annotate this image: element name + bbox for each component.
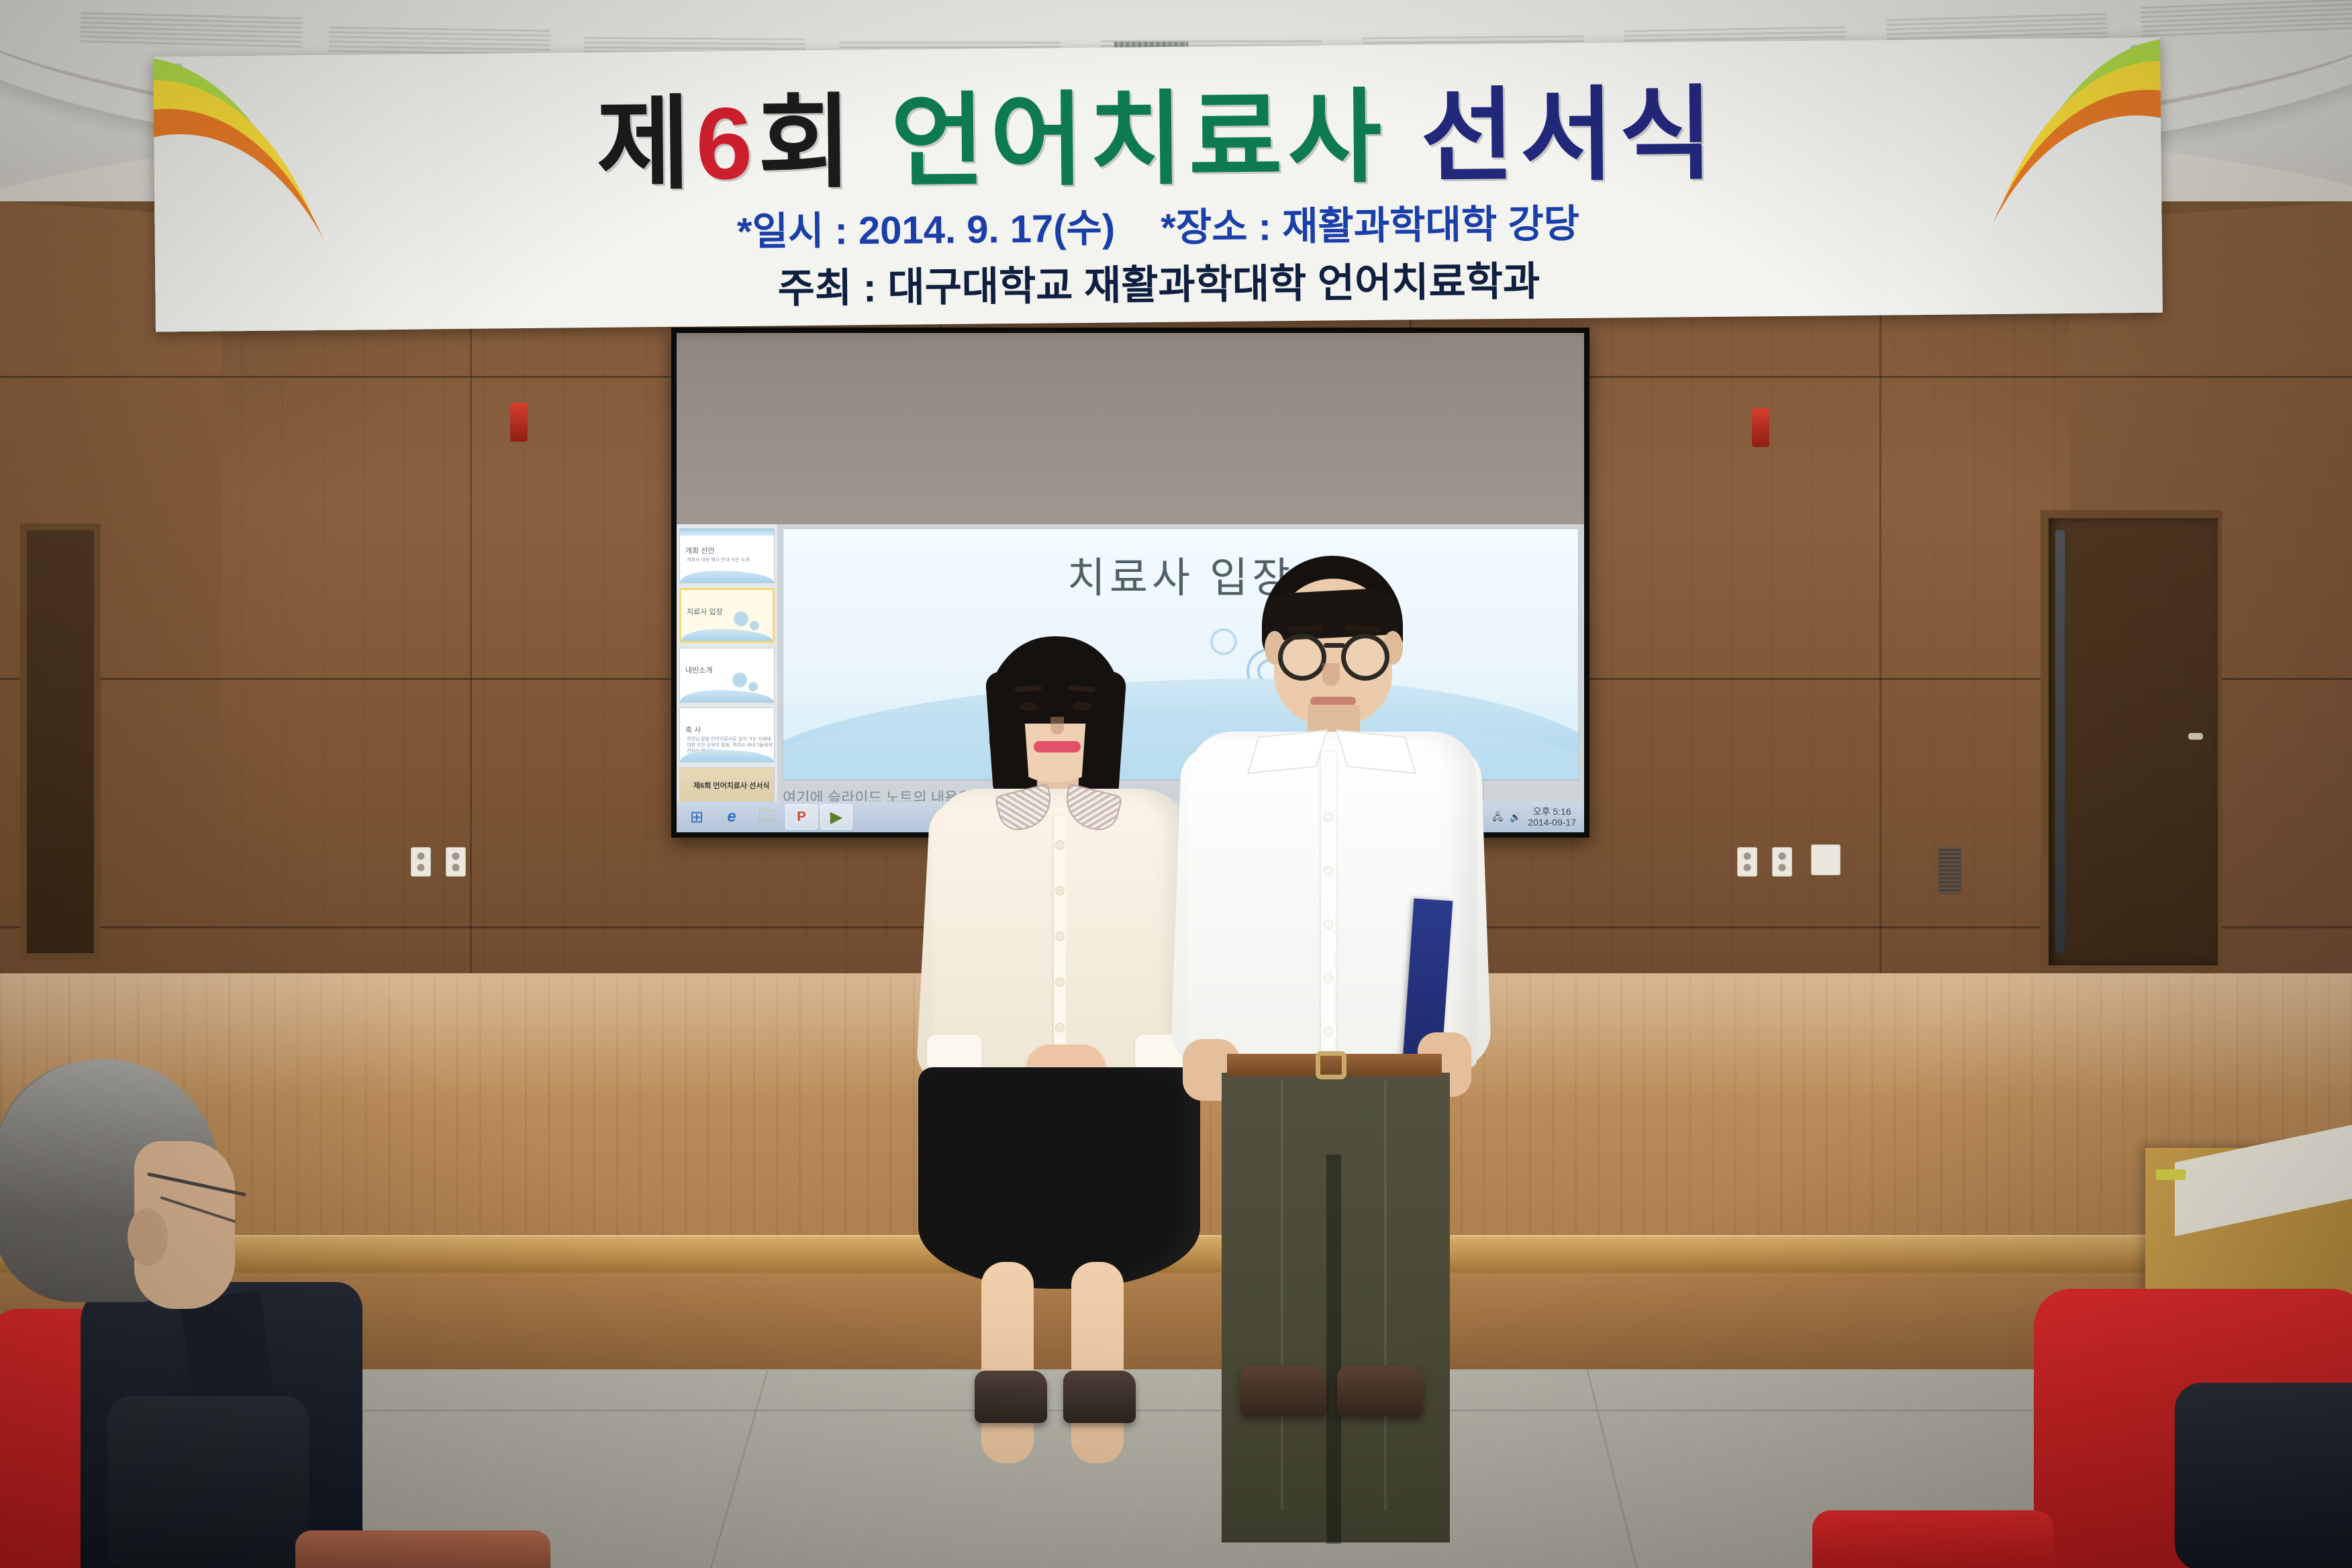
glasses-bridge — [1324, 643, 1345, 648]
banner-title-part: 선서식 — [1386, 77, 1718, 195]
banner-title-number: 6 — [695, 87, 758, 201]
blouse-button — [1055, 977, 1065, 987]
trouser-crease-left — [1281, 1081, 1283, 1510]
thumb-title: 개회 선언 — [685, 545, 715, 556]
system-tray[interactable]: 🖧 🔊 오후 5:16 2014-09-17 — [1492, 806, 1580, 828]
side-door[interactable] — [20, 524, 101, 960]
wall-outlet — [1737, 847, 1757, 877]
shoe-right — [1337, 1365, 1423, 1416]
skirt — [918, 1067, 1200, 1289]
media-player-icon[interactable]: ▶ — [820, 804, 852, 830]
auditorium-photo: 2 개회 선언 개회사 내용 행사 안내 식순 소개 3 치료사 입장 — [0, 0, 2352, 1568]
blouse-button — [1055, 932, 1065, 941]
shirt-placket — [1321, 752, 1336, 1067]
tree-icon — [748, 682, 758, 691]
slide-thumbnail[interactable]: 5 축 사 학장님 말씀 언어치료사로 살아 가는 자세에 대한 조언 당부의 … — [679, 707, 775, 763]
fire-alarm-icon — [1752, 408, 1769, 447]
trouser-crease-right — [1384, 1081, 1387, 1510]
door-handle-icon[interactable] — [2188, 733, 2203, 740]
audience-chair-back-right[interactable] — [2175, 1383, 2352, 1568]
thumb-wave — [680, 690, 774, 702]
thumb-title: 치료사 입장 — [687, 606, 723, 617]
audience-chair-back-left[interactable] — [107, 1396, 309, 1568]
blouse-button — [1055, 1023, 1065, 1032]
wall-outlet — [1772, 847, 1792, 877]
slide-title: 치료사 입장 — [783, 544, 1578, 604]
wall-panel-seam — [1879, 201, 1881, 980]
powerpoint-icon[interactable]: P — [785, 804, 818, 830]
tray-time: 오후 5:16 — [1533, 806, 1571, 817]
tree-icon — [734, 611, 748, 626]
slide-thumbnail-selected[interactable]: 3 치료사 입장 — [679, 588, 775, 643]
hair-fringe — [1263, 587, 1402, 642]
ceiling-vent — [80, 12, 302, 48]
leg-left — [981, 1262, 1034, 1463]
blouse-button — [1055, 886, 1065, 895]
thumb-title: 제6회 언어치료사 선서식 — [693, 780, 769, 791]
audience-ear — [128, 1208, 168, 1266]
eye-left — [1019, 702, 1038, 711]
table-label-sticker — [2156, 1169, 2186, 1180]
shirt-button — [1324, 920, 1333, 929]
audience-chair-far-right[interactable] — [1812, 1510, 2054, 1568]
banner-place: *장소 : 재활과학대학 강당 — [1161, 202, 1579, 250]
leg-right — [1071, 1262, 1124, 1463]
banner-title-part: 언어치료사 — [856, 81, 1387, 200]
slide-thumbnail-panel[interactable]: 2 개회 선언 개회사 내용 행사 안내 식순 소개 3 치료사 입장 — [677, 524, 777, 832]
wall-outlet — [446, 847, 466, 877]
blouse-placket — [1054, 816, 1066, 1071]
thumb-wave — [681, 629, 773, 641]
slide-thumbnail[interactable]: 2 개회 선언 개회사 내용 행사 안내 식순 소개 — [679, 528, 775, 583]
wall-outlet — [1811, 844, 1841, 875]
shoe-left — [1240, 1365, 1326, 1416]
cuff-left — [926, 1034, 983, 1071]
shirt-button — [1324, 866, 1333, 875]
windows-start-icon[interactable]: ⊞ — [681, 804, 713, 830]
thumb-wave-top — [680, 529, 774, 536]
shoe-right — [1063, 1371, 1136, 1423]
banner-date: *일시 : 2014. 9. 17(수) — [737, 207, 1116, 254]
thumb-wave — [680, 571, 774, 583]
door-hinge-icon — [2055, 530, 2065, 953]
fire-alarm-icon — [510, 403, 528, 442]
wall-outlet — [411, 847, 431, 877]
network-icon[interactable]: 🖧 — [1492, 812, 1503, 822]
banner-title-part: 회 — [757, 85, 857, 200]
tree-icon — [1210, 628, 1237, 655]
eye-right — [1073, 702, 1091, 711]
audience-bench-left — [295, 1530, 550, 1568]
internet-explorer-icon[interactable]: e — [716, 804, 748, 830]
thumb-title: 축 사 — [685, 724, 701, 735]
shirt-button — [1324, 1027, 1333, 1036]
tree-icon — [732, 673, 747, 687]
thumb-body: 개회사 내용 행사 안내 식순 소개 — [687, 557, 749, 563]
lips — [1034, 741, 1081, 752]
trouser-leg-gap — [1326, 1155, 1341, 1544]
volume-icon[interactable]: 🔊 — [1510, 812, 1521, 822]
nose — [1322, 663, 1340, 686]
tree-icon — [750, 621, 759, 630]
glasses-lens-right — [1341, 634, 1389, 681]
folder-icon[interactable]: 🗀 — [750, 804, 783, 830]
banner-title-part: 제 — [596, 87, 696, 202]
nose — [1050, 717, 1064, 734]
belt-buckle — [1316, 1051, 1346, 1079]
blouse-button — [1055, 840, 1065, 850]
shirt-button — [1324, 973, 1333, 983]
clock: 오후 5:16 2014-09-17 — [1528, 806, 1576, 828]
shirt-button — [1324, 812, 1333, 822]
right-door[interactable] — [2041, 510, 2222, 973]
glasses-lens-left — [1278, 634, 1326, 681]
thumb-title: 내빈소개 — [685, 665, 712, 675]
slide-thumbnail[interactable]: 4 내빈소개 — [679, 648, 775, 703]
shoe-left — [975, 1371, 1047, 1423]
tray-date: 2014-09-17 — [1528, 817, 1576, 828]
screen-blank-area — [677, 333, 1584, 528]
event-banner: 제6회 언어치료사 선서식 *일시 : 2014. 9. 17(수) *장소 :… — [153, 38, 2163, 332]
wall-speaker-icon — [1939, 847, 1961, 894]
